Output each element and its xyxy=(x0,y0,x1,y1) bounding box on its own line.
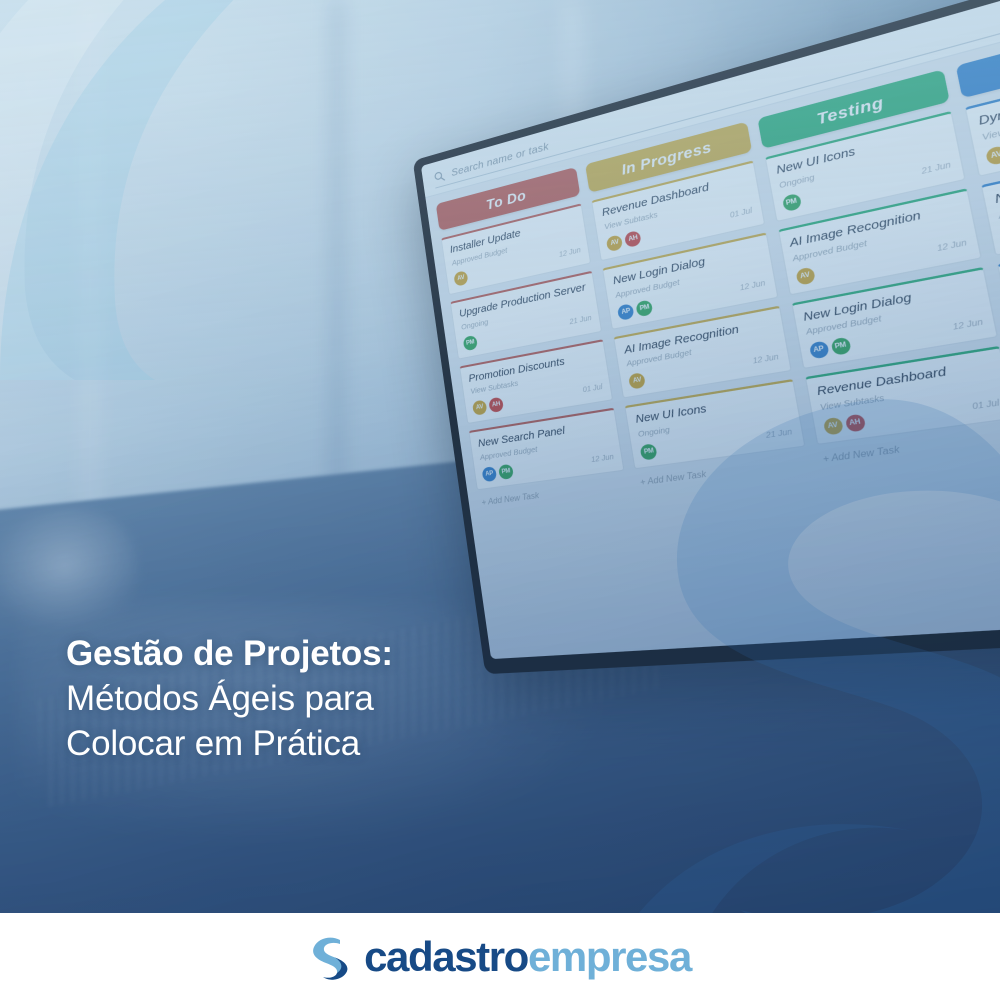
headline: Gestão de Projetos: Métodos Ágeis para C… xyxy=(66,632,666,766)
avatar[interactable]: AH xyxy=(624,230,642,248)
avatar-group: PM xyxy=(781,193,801,212)
avatar-group: APPM xyxy=(617,299,653,321)
avatar-group: AVAH xyxy=(822,414,865,436)
avatar-group: AV xyxy=(453,270,468,287)
avatar[interactable]: AV xyxy=(795,266,815,285)
avatar-group: PM xyxy=(463,334,478,350)
avatar-group: AVAH xyxy=(606,230,642,252)
avatar[interactable]: AV xyxy=(606,234,623,252)
avatar[interactable]: AP xyxy=(482,466,498,482)
headline-line-3: Colocar em Prática xyxy=(66,722,666,767)
avatar-group: AVAH xyxy=(985,139,1000,166)
task-due-date: 12 Jun xyxy=(752,353,779,365)
column-card-list: New UI IconsOngoingPM21 JunAI Image Reco… xyxy=(764,111,1000,445)
task-due-date: 12 Jun xyxy=(739,280,766,293)
s-swoosh-logomark xyxy=(309,933,353,981)
task-due-date: 21 Jun xyxy=(765,428,792,440)
footer-logo-bar: cadastroempresa xyxy=(0,913,1000,1000)
avatar-group: AV xyxy=(795,266,815,285)
avatar[interactable]: AP xyxy=(617,303,635,321)
avatar-group: AVAH xyxy=(472,397,504,416)
avatar[interactable]: PM xyxy=(830,337,851,356)
task-due-date: 12 Jun xyxy=(952,318,984,332)
avatar[interactable]: PM xyxy=(463,334,478,350)
task-card[interactable]: New Search PanelApproved BudgetAPPM12 Ju… xyxy=(468,408,624,491)
avatar[interactable]: AV xyxy=(453,270,468,287)
task-due-date: 12 Jun xyxy=(591,453,615,464)
avatar-group: PM xyxy=(640,443,658,460)
avatar[interactable]: AH xyxy=(488,397,504,413)
avatar[interactable]: AH xyxy=(844,414,865,433)
avatar[interactable]: AV xyxy=(985,145,1000,166)
avatar[interactable]: PM xyxy=(640,443,658,460)
task-due-date: 12 Jun xyxy=(936,239,967,253)
brand-wordmark: cadastroempresa xyxy=(364,936,691,978)
avatar[interactable]: PM xyxy=(781,193,801,212)
brand-name-dark: cadastro xyxy=(364,933,528,980)
headline-line-2: Métodos Ágeis para xyxy=(66,677,666,722)
task-due-date: 01 Jul xyxy=(582,384,603,395)
avatar[interactable]: AV xyxy=(628,372,646,390)
avatar-group: AV xyxy=(628,372,646,390)
headline-line-1: Gestão de Projetos: xyxy=(66,632,666,677)
search-icon xyxy=(433,169,446,183)
avatar-group: APPM xyxy=(482,464,514,483)
avatar[interactable]: PM xyxy=(636,299,654,317)
avatar[interactable]: AV xyxy=(472,400,487,416)
task-due-date: 21 Jun xyxy=(921,162,952,177)
social-card: Search name or task ✕ To DoInstaller Upd… xyxy=(0,0,1000,1000)
task-due-date: 12 Jun xyxy=(559,247,582,259)
brand-name-light: empresa xyxy=(528,933,691,980)
column-card-list: Installer UpdateApproved BudgetAV12 JunU… xyxy=(441,203,625,490)
task-due-date: 01 Jul xyxy=(729,208,753,221)
task-due-date: 21 Jun xyxy=(569,315,592,327)
task-due-date: 01 Jul xyxy=(971,399,1000,411)
avatar[interactable]: AP xyxy=(808,341,829,360)
avatar[interactable]: PM xyxy=(498,464,514,480)
avatar[interactable]: AV xyxy=(822,417,843,436)
avatar-group: APPM xyxy=(808,337,851,360)
